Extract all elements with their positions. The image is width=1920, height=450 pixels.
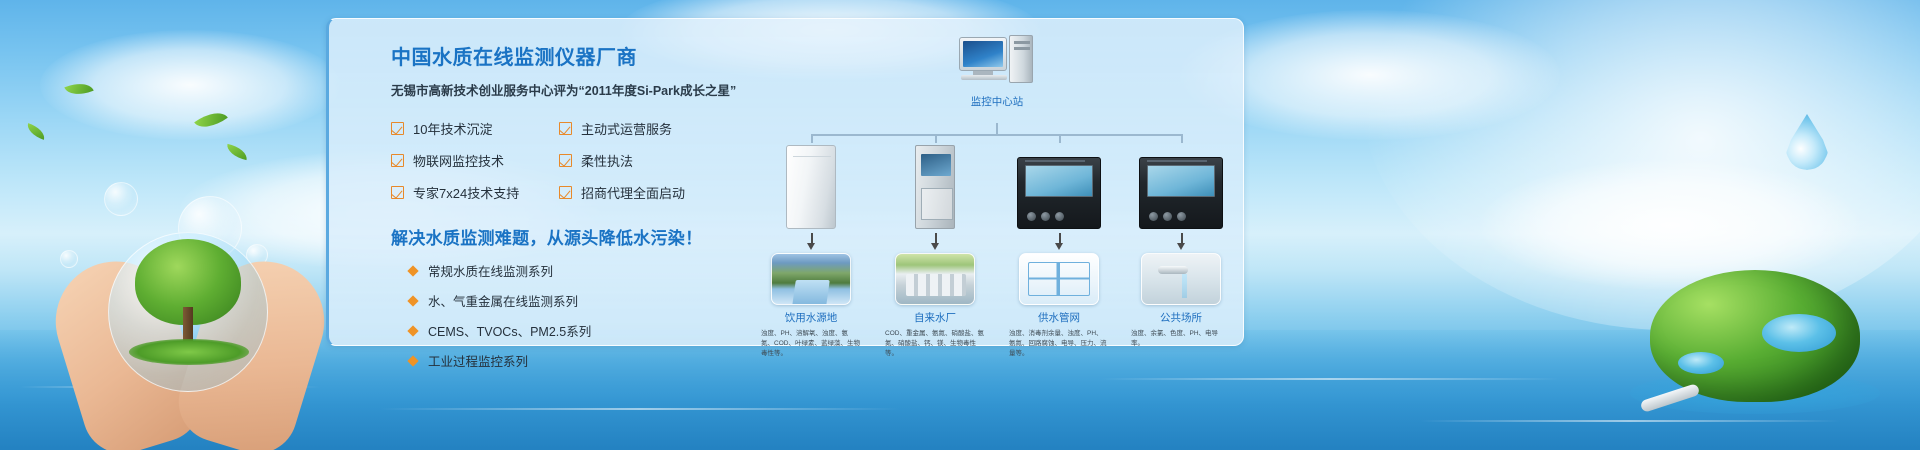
product-line-item: 水、气重金属在线监测系列	[409, 291, 761, 310]
earth-lake	[1678, 352, 1724, 374]
content-panel: 中国水质在线监测仪器厂商 无锡市高新技术创业服务中心评为“2011年度Si-Pa…	[326, 18, 1244, 346]
feature-item: 柔性执法	[559, 151, 761, 170]
scene-item: 供水管网 浊度、消毒剂余量、浊度、PH、氨氮、回路腐蚀、电导、压力、流量等。	[1007, 253, 1111, 358]
device-node	[1007, 143, 1111, 229]
eco-ground	[129, 339, 249, 365]
feature-label: 物联网监控技术	[413, 151, 504, 170]
earth-ball	[1650, 270, 1860, 402]
water-ripple	[1420, 420, 1840, 422]
feature-item: 主动式运营服务	[559, 119, 761, 138]
checkbox-icon	[559, 186, 572, 199]
leaf-icon	[194, 105, 228, 136]
feature-item: 专家7x24技术支持	[391, 183, 559, 202]
device-node	[759, 143, 863, 229]
product-line-item: 常规水质在线监测系列	[409, 261, 761, 280]
product-line-label: 工业过程监控系列	[428, 351, 528, 370]
scene-desc: 浊度、消毒剂余量、浊度、PH、氨氮、回路腐蚀、电导、压力、流量等。	[1007, 329, 1111, 358]
monitor-screen	[963, 41, 1003, 67]
device-node	[1129, 143, 1233, 229]
bus-branch	[1059, 134, 1061, 143]
scene-title: 公共场所	[1129, 310, 1233, 325]
device-node	[883, 143, 987, 229]
product-line-list: 常规水质在线监测系列 水、气重金属在线监测系列 CEMS、TVOCs、PM2.5…	[391, 261, 761, 370]
leaf-icon	[64, 78, 93, 101]
white-cabinet-icon	[759, 143, 863, 229]
page-title: 中国水质在线监测仪器厂商	[391, 41, 761, 70]
arrow-down-icon	[1055, 243, 1063, 250]
bus-horizontal	[811, 134, 1183, 136]
feature-label: 招商代理全面启动	[581, 183, 685, 202]
feature-item: 招商代理全面启动	[559, 183, 761, 202]
slogan: 解决水质监测难题，从源头降低水污染！	[391, 224, 761, 249]
feature-label: 主动式运营服务	[581, 119, 672, 138]
feature-label: 专家7x24技术支持	[413, 183, 519, 202]
checkbox-icon	[391, 186, 404, 199]
scene-desc: COD、重金属、氨氮、硝酸盐、氨氮、硝酸盐、钙、镁、生物毒性等。	[883, 329, 987, 358]
hands-holding-tree-icon	[60, 170, 320, 450]
feature-item: 物联网监控技术	[391, 151, 559, 170]
diamond-bullet-icon	[407, 265, 418, 276]
scene-title: 供水管网	[1007, 310, 1111, 325]
waterworks-photo	[895, 253, 975, 305]
feature-label: 10年技术沉淀	[413, 119, 492, 138]
subtitle: 无锡市高新技术创业服务中心评为“2011年度Si-Park成长之星”	[391, 80, 761, 99]
black-analyzer-icon	[1129, 143, 1233, 229]
arrow-down-icon	[1177, 243, 1185, 250]
diamond-bullet-icon	[407, 325, 418, 336]
scene-desc: 浊度、余氯、色度、PH、电导率。	[1129, 329, 1233, 349]
monitor-base	[961, 75, 1007, 80]
feature-label: 柔性执法	[581, 151, 633, 170]
grey-cabinet-icon	[883, 143, 987, 229]
arrow-down-icon	[807, 243, 815, 250]
black-analyzer-icon	[1007, 143, 1111, 229]
checkbox-icon	[391, 154, 404, 167]
water-monitoring-banner: 中国水质在线监测仪器厂商 无锡市高新技术创业服务中心评为“2011年度Si-Pa…	[0, 0, 1920, 450]
diamond-bullet-icon	[407, 355, 418, 366]
river-photo	[771, 253, 851, 305]
checkbox-icon	[559, 154, 572, 167]
scene-desc: 浊度、PH、溶解氧、浊度、氨氮、COD、叶绿素、蓝绿藻、生物毒性等。	[759, 329, 863, 358]
green-earth-icon	[1630, 244, 1880, 414]
water-ripple	[1100, 378, 1560, 380]
control-center-node: 监控中心站	[937, 35, 1057, 109]
checkbox-icon	[559, 122, 572, 135]
arrow-down-icon	[931, 243, 939, 250]
desktop-computer-icon	[959, 35, 1035, 89]
control-center-label: 监控中心站	[937, 94, 1057, 109]
product-line-label: 水、气重金属在线监测系列	[428, 291, 578, 310]
monitoring-system-diagram: 监控中心站	[759, 35, 1229, 335]
product-line-item: CEMS、TVOCs、PM2.5系列	[409, 321, 761, 340]
eco-globe	[108, 232, 268, 392]
panel-text-column: 中国水质在线监测仪器厂商 无锡市高新技术创业服务中心评为“2011年度Si-Pa…	[391, 41, 761, 381]
scene-title: 饮用水源地	[759, 310, 863, 325]
bus-branch	[1181, 134, 1183, 143]
product-line-label: 常规水质在线监测系列	[428, 261, 553, 280]
pipe-network-photo	[1019, 253, 1099, 305]
leaf-icon	[25, 123, 47, 140]
product-line-item: 工业过程监控系列	[409, 351, 761, 370]
scene-title: 自来水厂	[883, 310, 987, 325]
checkbox-icon	[391, 122, 404, 135]
feature-list: 10年技术沉淀 主动式运营服务 物联网监控技术 柔性执法 专家7x24技术支持	[391, 119, 761, 202]
public-place-photo	[1141, 253, 1221, 305]
scene-item: 自来水厂 COD、重金属、氨氮、硝酸盐、氨氮、硝酸盐、钙、镁、生物毒性等。	[883, 253, 987, 358]
pc-tower	[1009, 35, 1033, 83]
scene-item: 饮用水源地 浊度、PH、溶解氧、浊度、氨氮、COD、叶绿素、蓝绿藻、生物毒性等。	[759, 253, 863, 358]
diamond-bullet-icon	[407, 295, 418, 306]
scene-item: 公共场所 浊度、余氯、色度、PH、电导率。	[1129, 253, 1233, 349]
leaf-icon	[225, 144, 249, 160]
bus-branch	[811, 134, 813, 143]
feature-item: 10年技术沉淀	[391, 119, 559, 138]
earth-lake	[1762, 314, 1836, 352]
monitor	[959, 37, 1007, 71]
product-line-label: CEMS、TVOCs、PM2.5系列	[428, 321, 591, 340]
water-ripple	[380, 408, 900, 410]
bus-branch	[935, 134, 937, 143]
